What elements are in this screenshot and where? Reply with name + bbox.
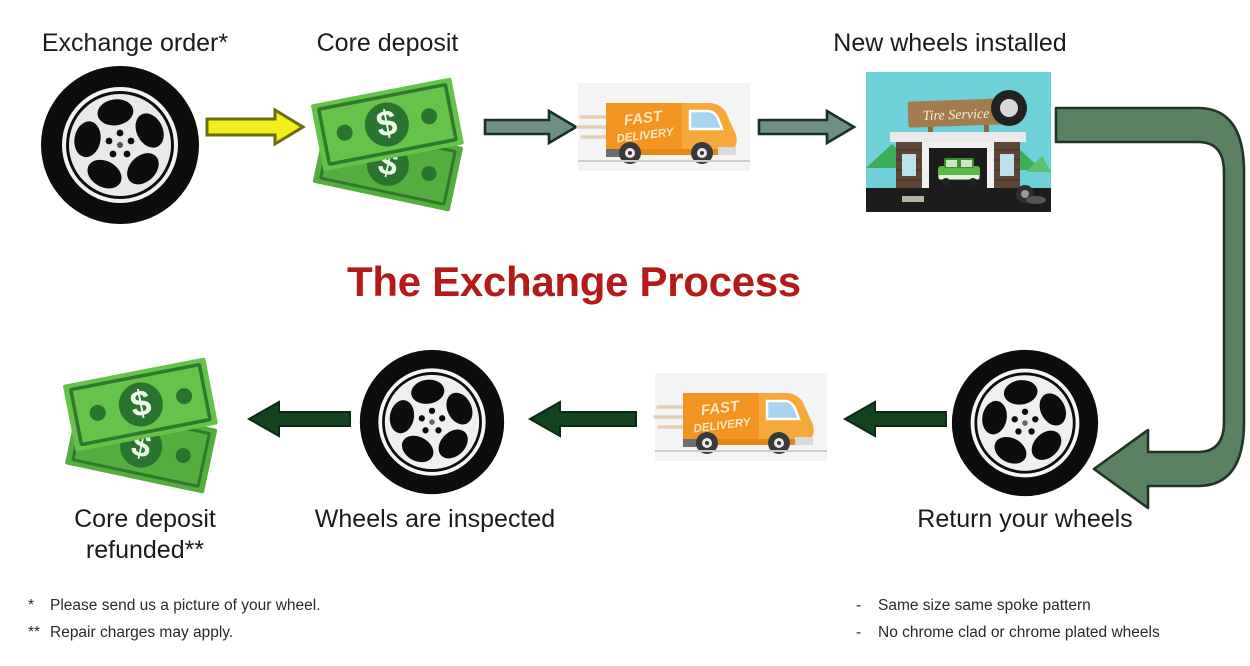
- footnote-left-2-text: Repair charges may apply.: [50, 624, 233, 641]
- footnotes-left: *Please send us a picture of your wheel.…: [28, 592, 321, 646]
- wheel-graphic-exchange-order: [40, 65, 200, 225]
- page-title: The Exchange Process: [347, 258, 801, 306]
- shop-graphic-installation: Tire Service: [866, 72, 1051, 212]
- money-graphic-refund: $ $: [58, 352, 236, 492]
- truck-graphic-return: FAST DELIVERY: [655, 373, 827, 461]
- footnote-right-1: -Same size same spoke pattern: [856, 592, 1160, 619]
- delivery-truck-icon: FAST DELIVERY: [655, 373, 827, 461]
- wheel-icon: [40, 65, 200, 225]
- delivery-truck-icon: FAST DELIVERY: [578, 83, 750, 171]
- shop-sign-text: Tire Service: [922, 107, 989, 124]
- tire-service-shop-icon: Tire Service: [866, 72, 1051, 212]
- footnote-right-2-mark: -: [856, 619, 878, 646]
- label-core-deposit: Core deposit: [285, 28, 490, 59]
- wheel-graphic-return: [950, 348, 1100, 498]
- exchange-process-diagram: Exchange order* Core deposit New wheels …: [0, 0, 1250, 666]
- arrow-return-to-shipping: [843, 400, 948, 438]
- footnote-right-1-text: Same size same spoke pattern: [878, 597, 1091, 614]
- money-graphic-core-deposit: $ $: [305, 70, 480, 210]
- arrow-deposit-to-shipping: [483, 108, 578, 146]
- wheel-icon: [358, 348, 506, 496]
- label-exchange-order: Exchange order*: [10, 28, 260, 59]
- arrow-inspected-to-refund: [247, 400, 352, 438]
- truck-graphic-outbound: FAST DELIVERY: [578, 83, 750, 171]
- label-core-deposit-refunded-line2: refunded**: [35, 535, 255, 566]
- footnote-left-2: **Repair charges may apply.: [28, 619, 321, 646]
- footnote-right-2: -No chrome clad or chrome plated wheels: [856, 619, 1160, 646]
- label-wheels-inspected: Wheels are inspected: [300, 504, 570, 535]
- footnote-left-1: *Please send us a picture of your wheel.: [28, 592, 321, 619]
- label-core-deposit-refunded-line1: Core deposit: [35, 504, 255, 535]
- wheel-icon: [950, 348, 1100, 498]
- arrow-shipping-to-inspected: [528, 400, 638, 438]
- footnote-left-1-text: Please send us a picture of your wheel.: [50, 597, 321, 614]
- label-return-your-wheels: Return your wheels: [900, 504, 1150, 535]
- footnote-right-1-mark: -: [856, 592, 878, 619]
- footnote-right-2-text: No chrome clad or chrome plated wheels: [878, 624, 1160, 641]
- footnotes-right: -Same size same spoke pattern -No chrome…: [856, 592, 1160, 646]
- arrow-exchange-to-deposit: [205, 108, 305, 146]
- money-icon: $ $: [58, 352, 236, 492]
- arrow-shipping-to-install: [757, 108, 857, 146]
- money-icon: $ $: [305, 70, 480, 210]
- label-new-wheels-installed: New wheels installed: [800, 28, 1100, 59]
- footnote-left-1-mark: *: [28, 592, 50, 619]
- wheel-graphic-inspected: [358, 348, 506, 496]
- footnote-left-2-mark: **: [28, 619, 50, 646]
